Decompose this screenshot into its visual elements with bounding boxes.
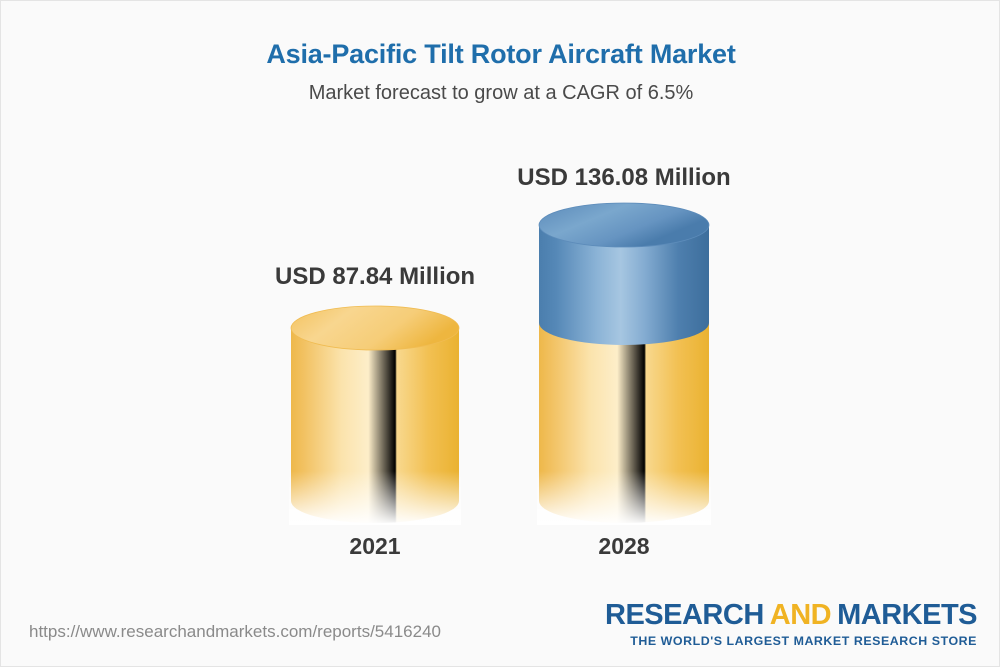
report-url[interactable]: https://www.researchandmarkets.com/repor…	[29, 622, 441, 642]
logo-word-markets: MARKETS	[837, 599, 977, 631]
bar-2021-bottom-fade	[289, 471, 461, 525]
bar-2021-category-label: 2021	[295, 533, 455, 560]
research-and-markets-logo[interactable]: RESEARCHANDMARKETS THE WORLD'S LARGEST M…	[605, 601, 977, 647]
chart-page: Asia-Pacific Tilt Rotor Aircraft Market …	[0, 0, 1000, 667]
logo-word-research: RESEARCH	[605, 599, 764, 631]
bar-2028-bottom-fade	[537, 471, 711, 525]
bar-2028-value-label: USD 136.08 Million	[514, 164, 734, 192]
logo-tagline: THE WORLD'S LARGEST MARKET RESEARCH STOR…	[605, 635, 977, 647]
logo-wordmark: RESEARCHANDMARKETS	[605, 601, 977, 630]
logo-word-and: AND	[770, 599, 831, 631]
bar-chart-svg	[1, 1, 1000, 667]
bar-2021	[289, 306, 461, 525]
bar-2021-value-label: USD 87.84 Million	[275, 263, 475, 291]
chart-plot-area: USD 87.84 Million USD 136.08 Million 202…	[1, 1, 1000, 667]
bar-2028	[537, 203, 711, 525]
bar-2028-category-label: 2028	[544, 533, 704, 560]
